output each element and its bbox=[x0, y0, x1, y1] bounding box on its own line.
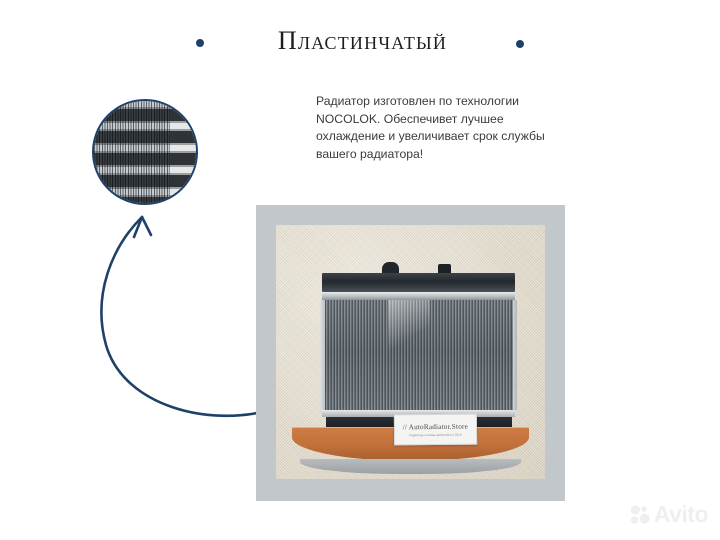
store-info-card: // AutoRadiator.Store Радиаторы на Ваш а… bbox=[394, 413, 477, 445]
radiator-fin-closeup-circle bbox=[92, 99, 198, 205]
product-photo-frame: // AutoRadiator.Store Радиаторы на Ваш а… bbox=[256, 205, 565, 501]
avito-watermark: Avito bbox=[629, 503, 708, 526]
store-card-subtitle: Радиаторы на Ваш автомобиль | 2019 bbox=[410, 432, 462, 436]
core-glare bbox=[388, 300, 429, 350]
radiator-assembly bbox=[322, 273, 516, 430]
title-dot-right-icon bbox=[516, 40, 524, 48]
product-photo: // AutoRadiator.Store Радиаторы на Ваш а… bbox=[276, 225, 545, 479]
body-paragraph: Радиатор изготовлен по технологии NOCOLO… bbox=[316, 93, 548, 163]
slide-canvas: { "slide": { "title": "Пластинчатый", "b… bbox=[0, 0, 720, 540]
radiator-fin-edge-strip bbox=[170, 101, 196, 203]
avito-wordmark: Avito bbox=[654, 503, 708, 526]
store-card-title: // AutoRadiator.Store bbox=[403, 422, 468, 431]
title-dot-left-icon bbox=[196, 39, 204, 47]
radiator-core-fins bbox=[325, 300, 513, 410]
page-title: Пластинчатый bbox=[230, 26, 495, 56]
radiator-top-tank bbox=[322, 273, 516, 292]
radiator-upper-rail bbox=[322, 292, 516, 300]
avito-logo-icon bbox=[629, 504, 651, 526]
